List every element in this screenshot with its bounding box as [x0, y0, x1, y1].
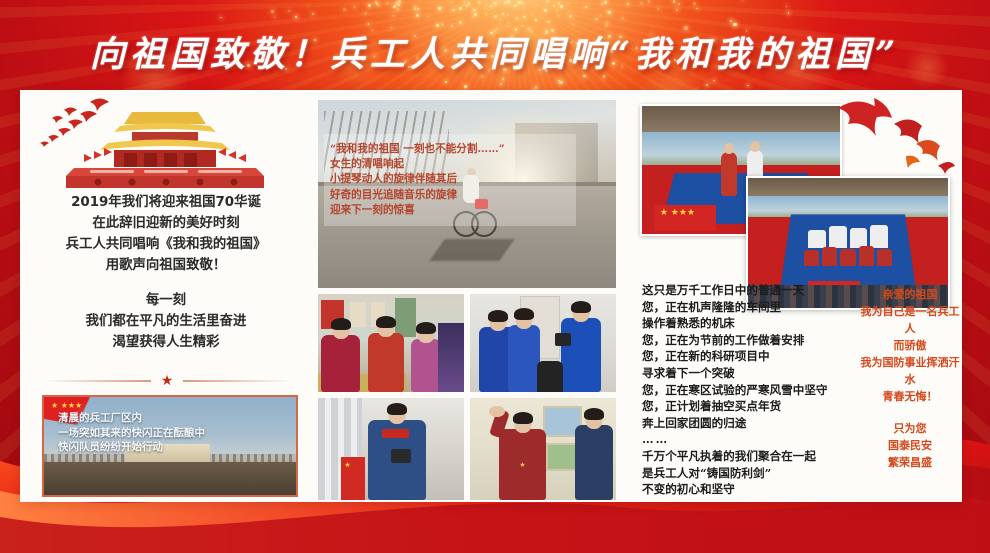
caption-line: 一场突如其来的快闪正在酝酿中 [58, 426, 288, 441]
tribute-line: 是兵工人对“铸国防利剑” [642, 465, 852, 482]
tribute-line: 您，正在机声隆隆的车间里 [642, 299, 852, 316]
pledge-paragraph: 亲爱的祖国我为自己是一名兵工人而骄傲我为国防事业挥洒汗水青春无悔！ 只为您国泰民… [860, 286, 960, 471]
cyclist-street-photo: “我和我的祖国 一刻也不能分割……”女生的清唱响起小提琴动人的旋律伴随其后好奇的… [318, 100, 616, 288]
pledge-line: 亲爱的祖国 [860, 286, 960, 303]
canteen-singers-photo [318, 294, 464, 392]
office-colleagues-photo [470, 294, 616, 392]
pledge-line: 国泰民安 [860, 437, 960, 454]
caption-line: 小提琴动人的旋律伴随其后 [330, 172, 570, 187]
pledge-line: 我为自己是一名兵工人 [860, 303, 960, 337]
lead-line: 渴望获得人生精彩 [26, 332, 306, 353]
ellipsis-separator: …… [642, 431, 852, 448]
tribute-line: 不变的初心和坚守 [642, 481, 852, 498]
caption-line: 快闪队员纷纷开始行动 [58, 440, 288, 455]
caption-line: 女生的清唱响起 [330, 157, 570, 172]
factory-dawn-caption: 清晨的兵工厂区内一场突如其来的快闪正在酝酿中快闪队员纷纷开始行动 [58, 411, 288, 455]
poster-title: 向祖国致敬！兵工人共同唱响“我和我的祖国” [90, 26, 900, 77]
tribute-line: 您，正在新的科研项目中 [642, 348, 852, 365]
lead-line: 在此辞旧迎新的美好时刻 [26, 213, 306, 234]
lead-line: 用歌声向祖国致敬！ [26, 255, 306, 276]
right-column: ★ ★★★ ★ ★★★ [624, 90, 962, 502]
tribute-line: 千万个平凡执着的我们聚合在一起 [642, 448, 852, 465]
tribute-line: 奔上回家团圆的归途 [642, 415, 852, 432]
tribute-line: 这只是万千工作日中的普通一天 [642, 282, 852, 299]
poster-stage: 向祖国致敬！兵工人共同唱响“我和我的祖国” [0, 0, 990, 553]
cyclist-photo-caption: “我和我的祖国 一刻也不能分割……”女生的清唱响起小提琴动人的旋律伴随其后好奇的… [324, 134, 576, 226]
tribute-paragraph: 这只是万千工作日中的普通一天您，正在机声隆隆的车间里操作着熟悉的机床您，正在为节… [642, 282, 852, 498]
pledge-line: 繁荣昌盛 [860, 454, 960, 471]
content-card: 2019年我们将迎来祖国70华诞在此辞旧迎新的美好时刻兵工人共同唱响《我和我的祖… [20, 90, 962, 502]
tribute-line: 寻求着下一个突破 [642, 365, 852, 382]
caption-line: 迎来下一刻的惊喜 [330, 203, 570, 218]
star-divider: ★ [42, 374, 292, 388]
tribute-line: 操作着熟悉的机床 [642, 315, 852, 332]
lead-line: 兵工人共同唱响《我和我的祖国》 [26, 234, 306, 255]
title-bar: 向祖国致敬！兵工人共同唱响“我和我的祖国” [0, 26, 990, 86]
pledge-line: 而骄傲 [860, 337, 960, 354]
pledge-line: 我为国防事业挥洒汗水 [860, 354, 960, 388]
divider-bar-right [183, 380, 292, 382]
caption-line: “我和我的祖国 一刻也不能分割……” [330, 142, 570, 157]
star-icon: ★ [161, 374, 174, 388]
waving-woman-photo: ★ [470, 398, 616, 500]
pledge-line: 青春无悔！ [860, 388, 960, 405]
china-flag-mat-icon: ★ ★★★ [654, 205, 716, 231]
divider-bar-left [42, 380, 151, 382]
lead-line: 每一刻 [26, 290, 306, 311]
lead-line: 2019年我们将迎来祖国70华诞 [26, 192, 306, 213]
middle-column: “我和我的祖国 一刻也不能分割……”女生的清唱响起小提琴动人的旋律伴随其后好奇的… [318, 100, 616, 500]
red-flying-birds-icon [828, 94, 956, 202]
caption-line: 清晨的兵工厂区内 [58, 411, 288, 426]
lead-line: 我们都在平凡的生活里奋进 [26, 311, 306, 332]
tribute-line: 您，正在寒区试验的严寒风雪中坚守 [642, 382, 852, 399]
caption-line: 好奇的目光追随音乐的旋律 [330, 188, 570, 203]
tiananmen-gate-icon [28, 96, 304, 188]
factory-dawn-photo: ★ ★★★ 清晨的兵工厂区内一场突如其来的快闪正在酝酿中快闪队员纷纷开始行动 [42, 395, 298, 497]
tribute-line: 您，正计划着抽空买点年货 [642, 398, 852, 415]
left-column: 2019年我们将迎来祖国70华诞在此辞旧迎新的美好时刻兵工人共同唱响《我和我的祖… [20, 90, 312, 502]
lead-paragraph: 2019年我们将迎来祖国70华诞在此辞旧迎新的美好时刻兵工人共同唱响《我和我的祖… [26, 192, 306, 353]
tribute-line: 您，正在为节前的工作做着安排 [642, 332, 852, 349]
workshop-worker-flag-photo: ★ [318, 398, 464, 500]
pledge-line: 只为您 [860, 420, 960, 437]
